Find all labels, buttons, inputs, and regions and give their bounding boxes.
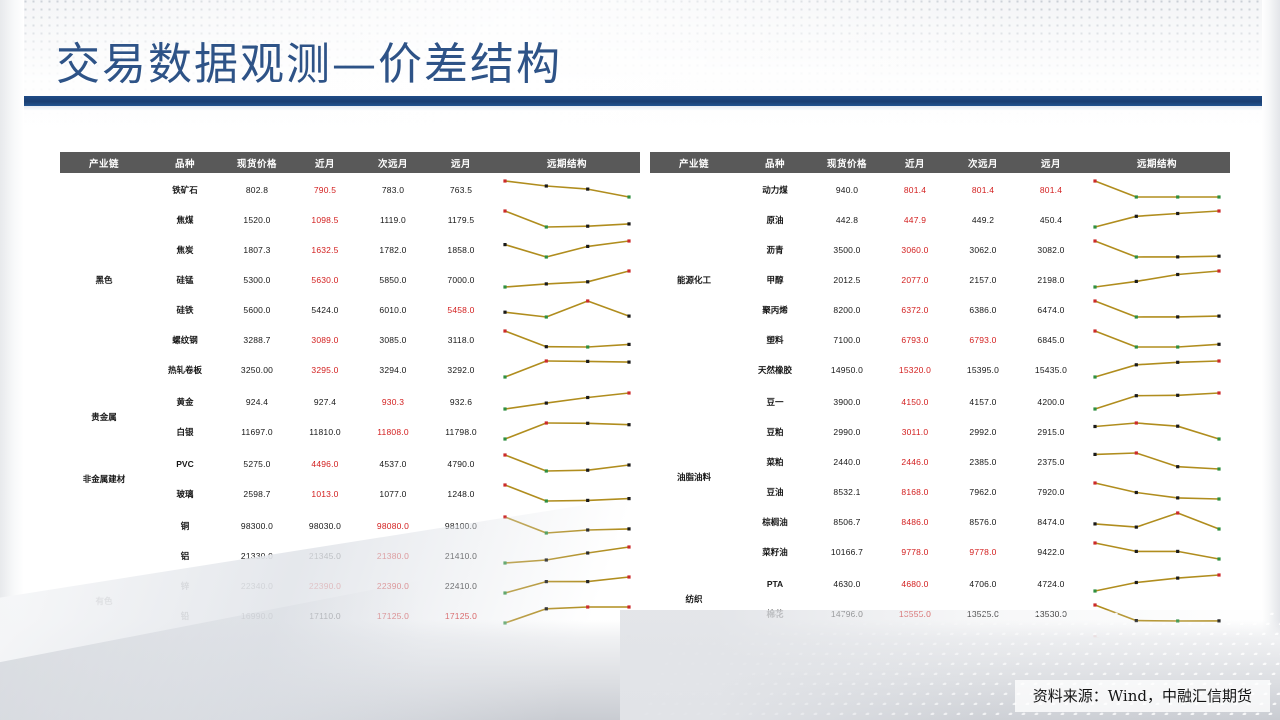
cell-forward-structure xyxy=(1084,386,1230,417)
cell-near-month: 1098.5 xyxy=(292,205,358,235)
col-header-far[interactable]: 远月 xyxy=(1018,152,1084,174)
forward-curve-sparkline xyxy=(497,205,637,233)
cell-far-month: 1179.5 xyxy=(428,205,494,235)
cell-forward-structure xyxy=(1084,265,1230,295)
cell-far-month: 1858.0 xyxy=(428,235,494,265)
cell-spot-price: 11697.0 xyxy=(222,417,292,448)
cell-industry-chain: 贵金属 xyxy=(60,386,148,448)
cell-spot-price: 8506.7 xyxy=(812,507,882,537)
cell-far-month: 2198.0 xyxy=(1018,265,1084,295)
forward-curve-sparkline xyxy=(1087,355,1227,383)
cell-second-far-month: 2992.0 xyxy=(948,417,1018,447)
slide-canvas: 交易数据观测—价差结构 产业链 品种 现货价格 近月 次远月 远月 远期结构 xyxy=(0,0,1280,720)
forward-curve-sparkline xyxy=(497,265,637,293)
cell-near-month: 447.9 xyxy=(882,205,948,235)
cell-second-far-month: 1782.0 xyxy=(358,235,428,265)
table-header-row: 产业链 品种 现货价格 近月 次远月 远月 远期结构 xyxy=(650,152,1230,174)
cell-second-far-month: 8576.0 xyxy=(948,507,1018,537)
cell-spot-price: 98300.0 xyxy=(222,510,292,541)
cell-near-month: 3295.0 xyxy=(292,355,358,386)
cell-near-month: 9778.0 xyxy=(882,537,948,568)
cell-variety: 甲醇 xyxy=(738,265,812,295)
cell-industry-chain: 非金属建材 xyxy=(60,448,148,510)
cell-variety: 铁矿石 xyxy=(148,174,222,205)
cell-spot-price: 8200.0 xyxy=(812,295,882,325)
forward-curve-sparkline xyxy=(497,175,637,203)
col-header-far[interactable]: 远月 xyxy=(428,152,494,174)
col-header-variety[interactable]: 品种 xyxy=(148,152,222,174)
table-row: 能源化工动力煤940.0801.4801.4801.4 xyxy=(650,174,1230,205)
cell-variety: PVC xyxy=(148,448,222,479)
table-row: 黑色铁矿石802.8790.5783.0763.5 xyxy=(60,174,640,205)
cell-forward-structure xyxy=(1084,174,1230,205)
cell-second-far-month: 801.4 xyxy=(948,174,1018,205)
cell-variety: 白银 xyxy=(148,417,222,448)
cell-variety: 天然橡胶 xyxy=(738,355,812,386)
cell-near-month: 790.5 xyxy=(292,174,358,205)
cell-spot-price: 3288.7 xyxy=(222,325,292,355)
cell-forward-structure xyxy=(494,235,640,265)
cell-second-far-month: 6010.0 xyxy=(358,295,428,325)
cell-second-far-month: 2157.0 xyxy=(948,265,1018,295)
cell-variety: 螺纹钢 xyxy=(148,325,222,355)
cell-far-month: 15435.0 xyxy=(1018,355,1084,386)
cell-variety: 豆粕 xyxy=(738,417,812,447)
cell-forward-structure xyxy=(494,355,640,386)
cell-near-month: 801.4 xyxy=(882,174,948,205)
cell-second-far-month: 6793.0 xyxy=(948,325,1018,355)
cell-second-far-month: 9778.0 xyxy=(948,537,1018,568)
cell-near-month: 2446.0 xyxy=(882,447,948,477)
forward-curve-sparkline xyxy=(497,355,637,383)
cell-far-month: 3292.0 xyxy=(428,355,494,386)
cell-industry-chain: 能源化工 xyxy=(650,174,738,386)
forward-curve-sparkline xyxy=(497,417,637,445)
forward-curve-sparkline xyxy=(1087,387,1227,415)
cell-second-far-month: 3294.0 xyxy=(358,355,428,386)
forward-curve-sparkline xyxy=(1087,325,1227,353)
cell-far-month: 4790.0 xyxy=(428,448,494,479)
table-row: 非金属建材PVC5275.04496.04537.04790.0 xyxy=(60,448,640,479)
cell-far-month: 1248.0 xyxy=(428,479,494,510)
source-note: 资料来源：Wind，中融汇信期货 xyxy=(1033,687,1252,705)
cell-forward-structure xyxy=(494,205,640,235)
col-header-variety[interactable]: 品种 xyxy=(738,152,812,174)
cell-forward-structure xyxy=(494,295,640,325)
cell-far-month: 6474.0 xyxy=(1018,295,1084,325)
cell-second-far-month: 4157.0 xyxy=(948,386,1018,417)
cell-spot-price: 7100.0 xyxy=(812,325,882,355)
cell-near-month: 8486.0 xyxy=(882,507,948,537)
forward-curve-sparkline xyxy=(1087,235,1227,263)
forward-curve-sparkline xyxy=(1087,205,1227,233)
cell-far-month: 763.5 xyxy=(428,174,494,205)
cell-second-far-month: 11808.0 xyxy=(358,417,428,448)
cell-variety: 热轧卷板 xyxy=(148,355,222,386)
table-header-row: 产业链 品种 现货价格 近月 次远月 远月 远期结构 xyxy=(60,152,640,174)
cell-forward-structure xyxy=(494,448,640,479)
cell-spot-price: 2440.0 xyxy=(812,447,882,477)
col-header-near[interactable]: 近月 xyxy=(882,152,948,174)
cell-forward-structure xyxy=(494,417,640,448)
forward-curve-sparkline xyxy=(1087,447,1227,475)
col-header-spot[interactable]: 现货价格 xyxy=(222,152,292,174)
cell-near-month: 3011.0 xyxy=(882,417,948,447)
col-header-mid[interactable]: 次远月 xyxy=(948,152,1018,174)
cell-variety: 塑料 xyxy=(738,325,812,355)
cell-forward-structure xyxy=(1084,355,1230,386)
cell-forward-structure xyxy=(1084,235,1230,265)
cell-variety: 黄金 xyxy=(148,386,222,417)
cell-second-far-month: 4706.0 xyxy=(948,568,1018,599)
cell-variety: 沥青 xyxy=(738,235,812,265)
forward-curve-sparkline xyxy=(497,235,637,263)
cell-forward-structure xyxy=(1084,537,1230,568)
cell-near-month: 8168.0 xyxy=(882,477,948,507)
cell-near-month: 15320.0 xyxy=(882,355,948,386)
cell-near-month: 3060.0 xyxy=(882,235,948,265)
cell-variety: 硅铁 xyxy=(148,295,222,325)
col-header-chain[interactable]: 产业链 xyxy=(650,152,738,174)
cell-spot-price: 5600.0 xyxy=(222,295,292,325)
cell-forward-structure xyxy=(1084,447,1230,477)
cell-spot-price: 14950.0 xyxy=(812,355,882,386)
cell-far-month: 3082.0 xyxy=(1018,235,1084,265)
forward-curve-sparkline xyxy=(1087,175,1227,203)
cell-spot-price: 10166.7 xyxy=(812,537,882,568)
cell-second-far-month: 783.0 xyxy=(358,174,428,205)
cell-far-month: 801.4 xyxy=(1018,174,1084,205)
cell-spot-price: 2012.5 xyxy=(812,265,882,295)
forward-curve-sparkline xyxy=(497,325,637,353)
cell-spot-price: 1520.0 xyxy=(222,205,292,235)
cell-far-month: 8474.0 xyxy=(1018,507,1084,537)
cell-forward-structure xyxy=(494,386,640,417)
cell-second-far-month: 3085.0 xyxy=(358,325,428,355)
table-row: 油脂油料豆一3900.04150.04157.04200.0 xyxy=(650,386,1230,417)
cell-far-month: 9422.0 xyxy=(1018,537,1084,568)
cell-spot-price: 442.8 xyxy=(812,205,882,235)
cell-forward-structure xyxy=(1084,325,1230,355)
col-header-spot[interactable]: 现货价格 xyxy=(812,152,882,174)
cell-second-far-month: 4537.0 xyxy=(358,448,428,479)
forward-curve-sparkline xyxy=(497,449,637,477)
cell-variety: 菜粕 xyxy=(738,447,812,477)
forward-curve-sparkline xyxy=(497,387,637,415)
cell-spot-price: 5300.0 xyxy=(222,265,292,295)
cell-variety: 聚丙烯 xyxy=(738,295,812,325)
forward-curve-sparkline xyxy=(497,295,637,323)
cell-near-month: 4680.0 xyxy=(882,568,948,599)
cell-near-month: 927.4 xyxy=(292,386,358,417)
cell-far-month: 2915.0 xyxy=(1018,417,1084,447)
cell-forward-structure xyxy=(1084,205,1230,235)
forward-curve-sparkline xyxy=(1087,477,1227,505)
cell-forward-structure xyxy=(494,265,640,295)
source-note-box: 资料来源：Wind，中融汇信期货 xyxy=(1015,680,1270,712)
cell-near-month: 98030.0 xyxy=(292,510,358,541)
cell-spot-price: 940.0 xyxy=(812,174,882,205)
forward-curve-sparkline xyxy=(1087,295,1227,323)
cell-near-month: 5630.0 xyxy=(292,265,358,295)
cell-industry-chain: 黑色 xyxy=(60,174,148,386)
forward-curve-sparkline xyxy=(1087,265,1227,293)
header-accent-bar-shadow xyxy=(0,106,1280,111)
cell-far-month: 7000.0 xyxy=(428,265,494,295)
cell-second-far-month: 1119.0 xyxy=(358,205,428,235)
cell-spot-price: 924.4 xyxy=(222,386,292,417)
cell-far-month: 2375.0 xyxy=(1018,447,1084,477)
cell-forward-structure xyxy=(494,174,640,205)
cell-second-far-month: 449.2 xyxy=(948,205,1018,235)
cell-spot-price: 802.8 xyxy=(222,174,292,205)
forward-curve-sparkline xyxy=(1087,507,1227,535)
cell-far-month: 5458.0 xyxy=(428,295,494,325)
cell-near-month: 5424.0 xyxy=(292,295,358,325)
cell-second-far-month: 7962.0 xyxy=(948,477,1018,507)
cell-variety: 焦煤 xyxy=(148,205,222,235)
cell-forward-structure xyxy=(1084,295,1230,325)
cell-near-month: 6372.0 xyxy=(882,295,948,325)
cell-forward-structure xyxy=(1084,568,1230,599)
cell-variety: 豆一 xyxy=(738,386,812,417)
cell-second-far-month: 5850.0 xyxy=(358,265,428,295)
col-header-structure[interactable]: 远期结构 xyxy=(1084,152,1230,174)
cell-far-month: 4200.0 xyxy=(1018,386,1084,417)
cell-spot-price: 1807.3 xyxy=(222,235,292,265)
cell-forward-structure xyxy=(1084,507,1230,537)
cell-second-far-month: 2385.0 xyxy=(948,447,1018,477)
header-accent-bar xyxy=(0,96,1280,106)
cell-second-far-month: 930.3 xyxy=(358,386,428,417)
cell-near-month: 6793.0 xyxy=(882,325,948,355)
cell-variety: 动力煤 xyxy=(738,174,812,205)
forward-curve-sparkline xyxy=(1087,417,1227,445)
cell-spot-price: 4630.0 xyxy=(812,568,882,599)
col-header-near[interactable]: 近月 xyxy=(292,152,358,174)
cell-second-far-month: 6386.0 xyxy=(948,295,1018,325)
cell-variety: 豆油 xyxy=(738,477,812,507)
cell-near-month: 2077.0 xyxy=(882,265,948,295)
cell-spot-price: 3900.0 xyxy=(812,386,882,417)
cell-far-month: 7920.0 xyxy=(1018,477,1084,507)
cell-near-month: 1013.0 xyxy=(292,479,358,510)
col-header-chain[interactable]: 产业链 xyxy=(60,152,148,174)
col-header-structure[interactable]: 远期结构 xyxy=(494,152,640,174)
cell-far-month: 932.6 xyxy=(428,386,494,417)
cell-variety: 焦炭 xyxy=(148,235,222,265)
cell-variety: 棕榈油 xyxy=(738,507,812,537)
cell-spot-price: 2990.0 xyxy=(812,417,882,447)
cell-second-far-month: 15395.0 xyxy=(948,355,1018,386)
cell-near-month: 11810.0 xyxy=(292,417,358,448)
cell-spot-price: 8532.1 xyxy=(812,477,882,507)
cell-variety: 玻璃 xyxy=(148,479,222,510)
cell-far-month: 11798.0 xyxy=(428,417,494,448)
cell-second-far-month: 3062.0 xyxy=(948,235,1018,265)
cell-near-month: 3089.0 xyxy=(292,325,358,355)
cell-forward-structure xyxy=(1084,477,1230,507)
cell-forward-structure xyxy=(1084,417,1230,447)
cell-near-month: 4150.0 xyxy=(882,386,948,417)
col-header-mid[interactable]: 次远月 xyxy=(358,152,428,174)
cell-far-month: 450.4 xyxy=(1018,205,1084,235)
cell-spot-price: 3500.0 xyxy=(812,235,882,265)
forward-curve-sparkline xyxy=(1087,537,1227,565)
cell-spot-price: 3250.00 xyxy=(222,355,292,386)
cell-variety: 铜 xyxy=(148,510,222,541)
cell-near-month: 4496.0 xyxy=(292,448,358,479)
cell-variety: 硅锰 xyxy=(148,265,222,295)
cell-spot-price: 2598.7 xyxy=(222,479,292,510)
page-title: 交易数据观测—价差结构 xyxy=(56,28,562,92)
cell-spot-price: 5275.0 xyxy=(222,448,292,479)
table-row: 贵金属黄金924.4927.4930.3932.6 xyxy=(60,386,640,417)
cell-far-month: 6845.0 xyxy=(1018,325,1084,355)
cell-far-month: 3118.0 xyxy=(428,325,494,355)
cell-second-far-month: 1077.0 xyxy=(358,479,428,510)
cell-near-month: 1632.5 xyxy=(292,235,358,265)
cell-far-month: 4724.0 xyxy=(1018,568,1084,599)
forward-curve-sparkline xyxy=(1087,569,1227,597)
cell-variety: 原油 xyxy=(738,205,812,235)
cell-forward-structure xyxy=(494,325,640,355)
